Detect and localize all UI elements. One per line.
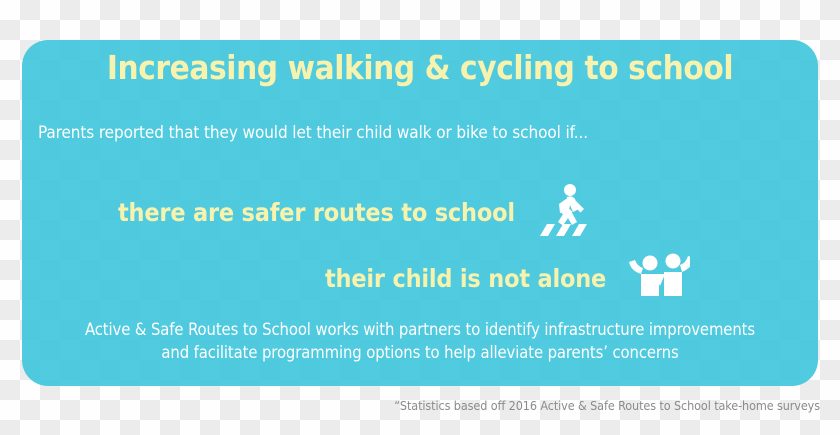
reason-label-safer-routes: there are safer routes to school [118, 198, 515, 227]
two-children-arms-raised-icon [628, 252, 690, 305]
closing-line-2: and facilitate programming options to he… [22, 341, 818, 364]
closing-paragraph: Active & Safe Routes to School works wit… [22, 318, 818, 364]
reason-row-not-alone: their child is not alone [325, 252, 690, 305]
infographic-canvas: Increasing walking & cycling to school P… [0, 0, 840, 435]
pedestrian-crosswalk-icon [537, 182, 595, 243]
reason-label-not-alone: their child is not alone [325, 264, 606, 293]
reason-row-safer-routes: there are safer routes to school [118, 182, 595, 243]
page-title: Increasing walking & cycling to school [22, 48, 818, 88]
infographic-card: Increasing walking & cycling to school P… [22, 40, 818, 386]
intro-text: Parents reported that they would let the… [38, 122, 588, 144]
footnote-text: “Statistics based off 2016 Active & Safe… [394, 398, 820, 413]
closing-line-1: Active & Safe Routes to School works wit… [22, 318, 818, 341]
